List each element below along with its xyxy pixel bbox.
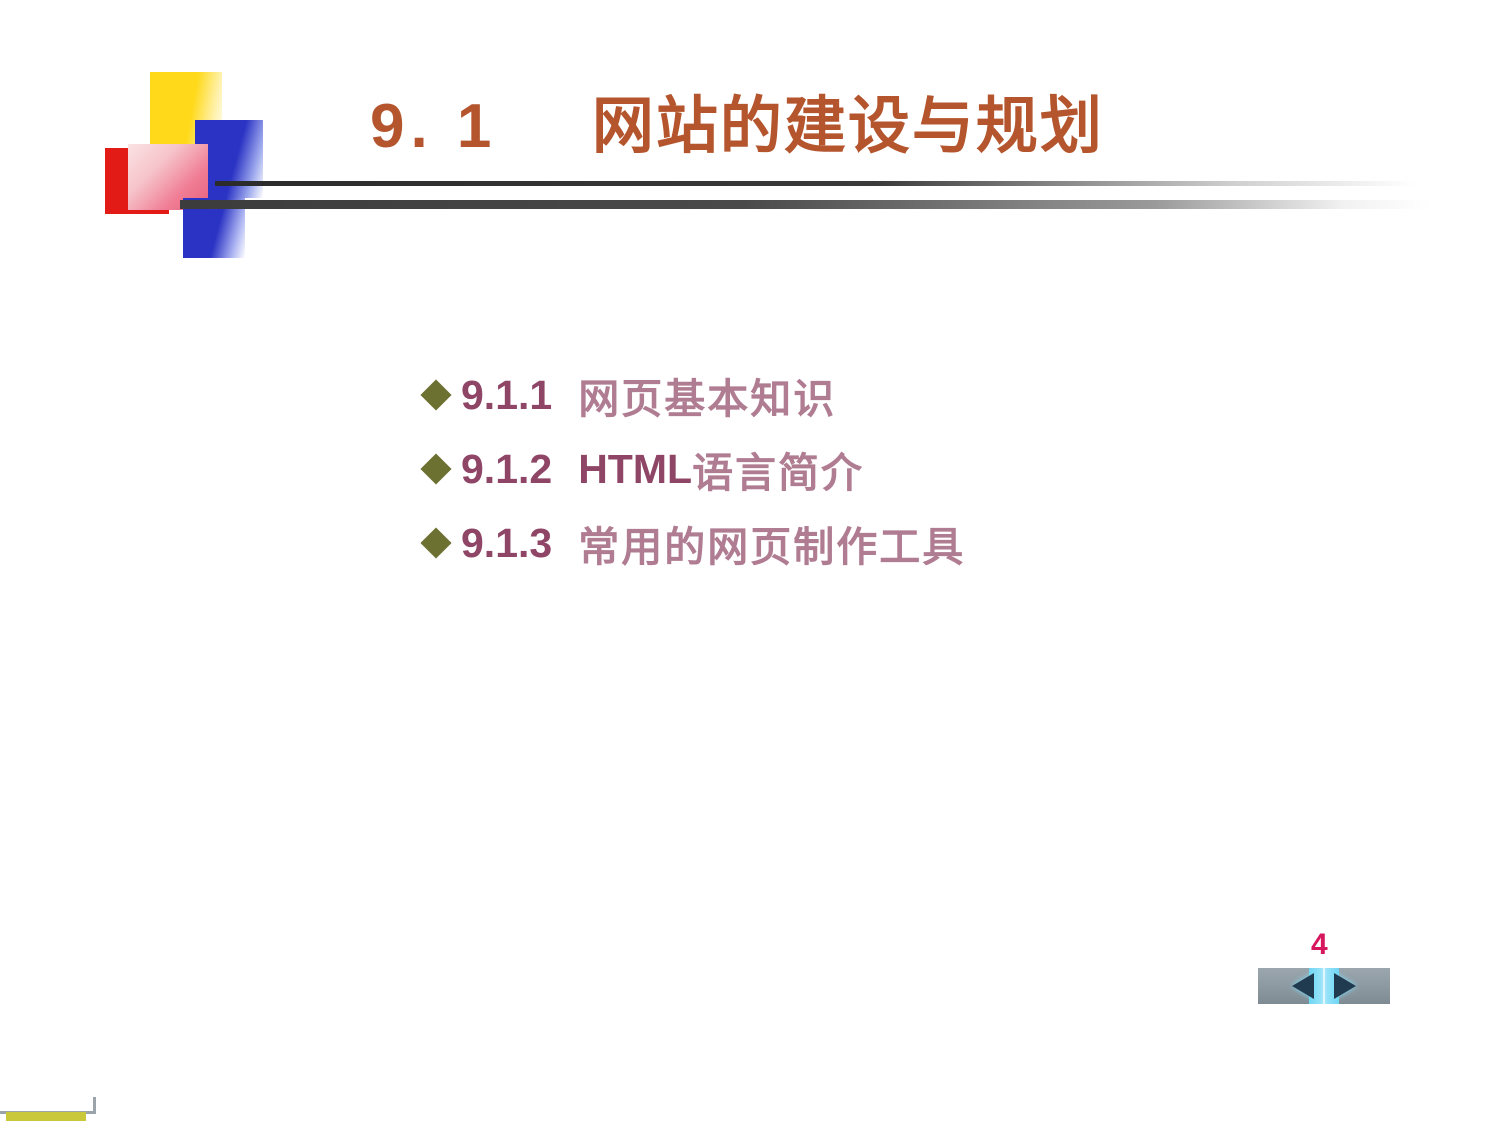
slide-header: 9. 1 网站的建设与规划 — [0, 0, 1500, 260]
slide-canvas: 9. 1 网站的建设与规划 9.1.1 网页基本知识 9.1.2 HTML 语言… — [0, 0, 1500, 1125]
arrow-left-icon — [1292, 973, 1314, 999]
arrow-right-icon — [1334, 973, 1356, 999]
previous-slide-button[interactable] — [1259, 968, 1324, 1004]
list-item-label: 语言简介 — [692, 439, 864, 499]
title-section-number: 9. 1 — [370, 92, 497, 161]
decorative-squares-logo — [105, 60, 290, 250]
diamond-bullet-icon — [420, 527, 451, 558]
corner-olive-bar — [6, 1112, 86, 1121]
agenda-list: 9.1.1 网页基本知识 9.1.2 HTML 语言简介 9.1.3 常用的网页… — [425, 360, 1225, 578]
list-item-number: 9.1.2 — [461, 446, 552, 493]
slide-navigation-bar — [1258, 968, 1390, 1004]
list-item-label: 常用的网页制作工具 — [578, 513, 965, 573]
next-slide-button[interactable] — [1324, 968, 1389, 1004]
list-item[interactable]: 9.1.2 HTML 语言简介 — [425, 434, 1225, 504]
page-number: 4 — [1311, 928, 1328, 962]
list-item-number: 9.1.1 — [461, 372, 552, 419]
list-item-latin-prefix: HTML — [578, 446, 692, 493]
list-item-label: 网页基本知识 — [578, 365, 836, 425]
list-item[interactable]: 9.1.3 常用的网页制作工具 — [425, 508, 1225, 578]
diamond-bullet-icon — [420, 453, 451, 484]
list-item[interactable]: 9.1.1 网页基本知识 — [425, 360, 1225, 430]
header-rule-thin — [215, 181, 1415, 186]
diamond-bullet-icon — [420, 379, 451, 410]
list-item-number: 9.1.3 — [461, 520, 552, 567]
title-heading-text: 网站的建设与规划 — [592, 92, 1104, 161]
page-title: 9. 1 网站的建设与规划 — [370, 96, 1104, 158]
bottom-left-corner-marker — [0, 1097, 95, 1125]
header-rule-thick — [180, 200, 1430, 209]
